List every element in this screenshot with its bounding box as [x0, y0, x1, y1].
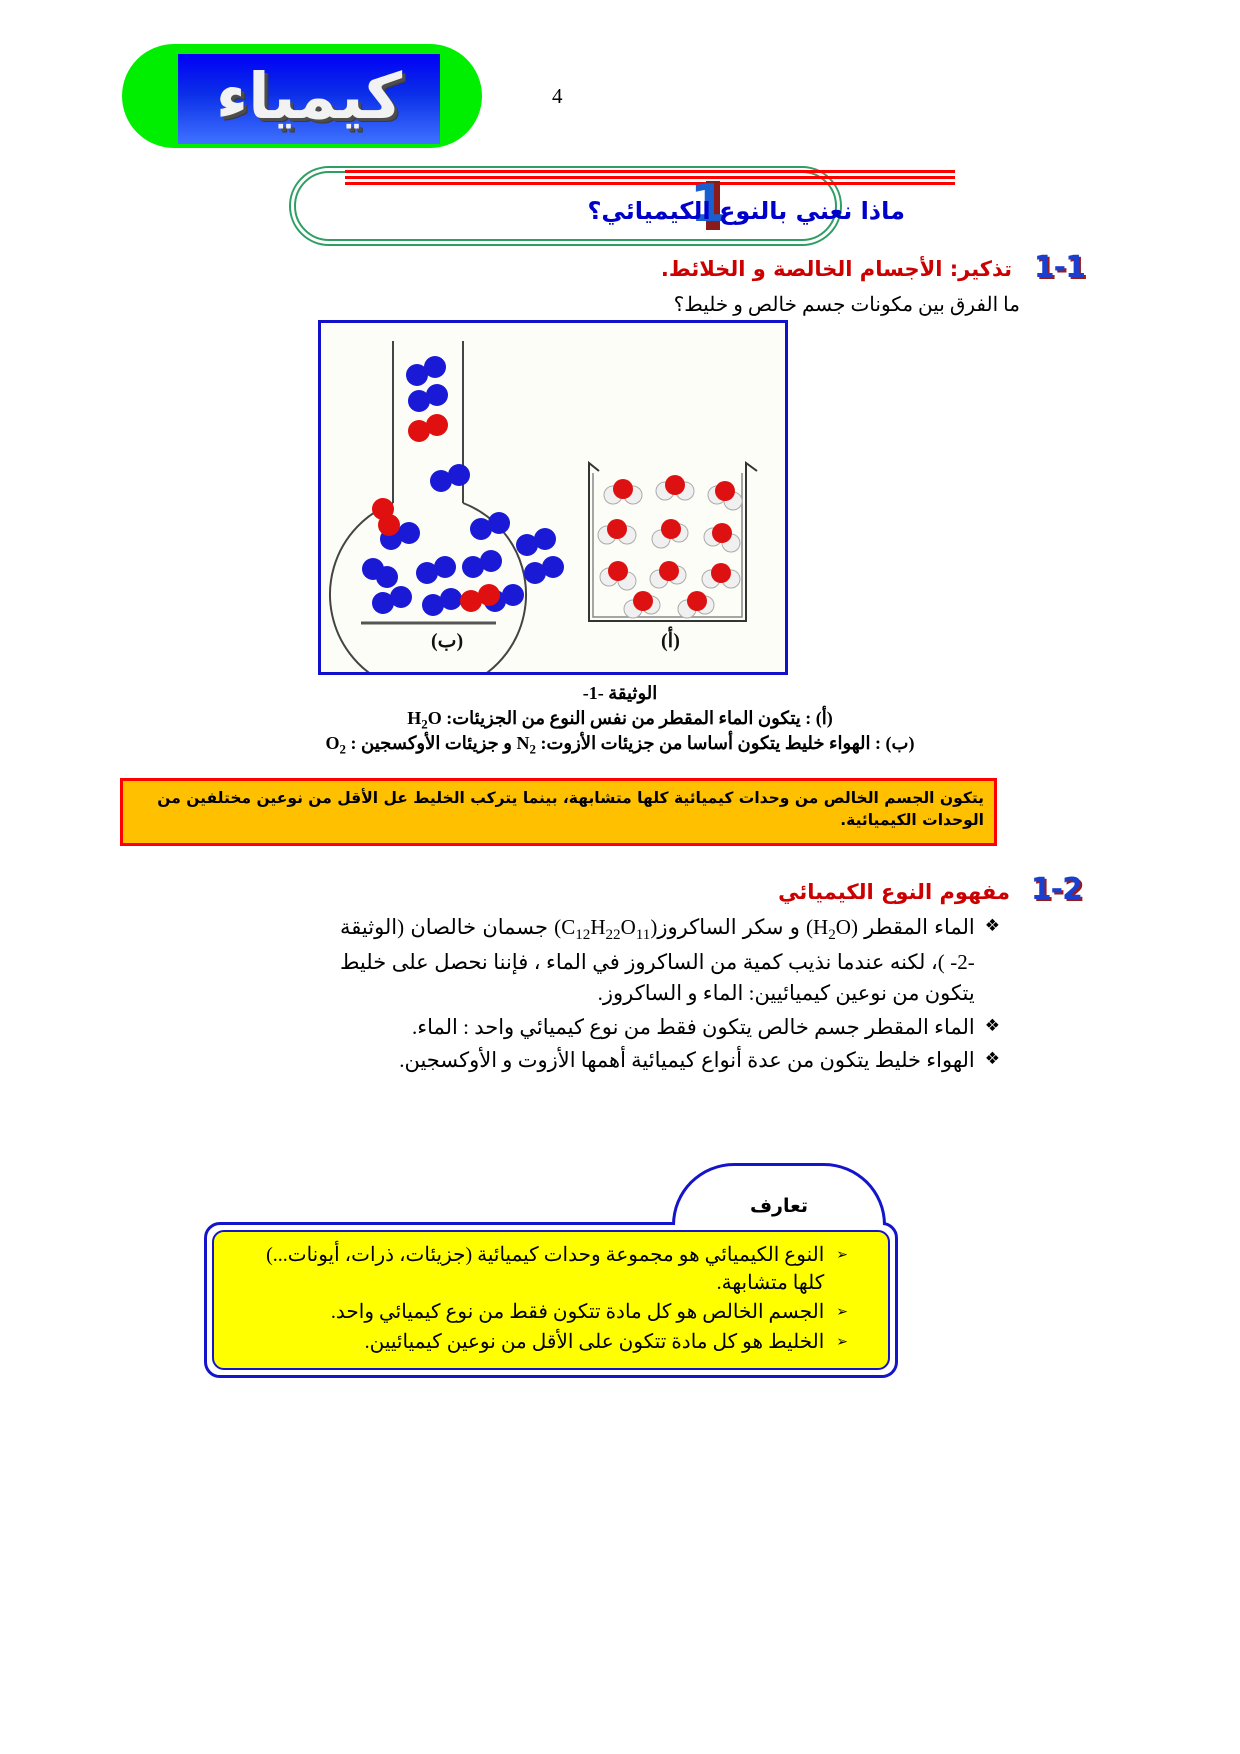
figure-caption-a: (أ) : يتكون الماء المقطر من نفس النوع من…	[0, 708, 1240, 733]
caption-b-text1: (ب) : الهواء خليط يتكون أساسا من جزيئات …	[536, 733, 914, 753]
list-item: ❖ الماء المقطر (H2O) و سكر الساكروز(C12H…	[340, 912, 1000, 1010]
list-item: ❖ الهواء خليط يتكون من عدة أنواع كيميائي…	[340, 1045, 1000, 1077]
definition-text: الجسم الخالص هو كل مادة تتكون فقط من نوع…	[230, 1299, 824, 1327]
figure-1-illustration	[321, 323, 785, 672]
section1-title: ماذا نعني بالنوع الكيميائي؟	[588, 197, 906, 225]
caption-a-H: H	[407, 708, 421, 728]
definitions-box: ➢ النوع الكيميائي هو مجموعة وحدات كيميائ…	[212, 1230, 890, 1370]
page-header: كيمياء 4	[0, 22, 1240, 142]
list-item-text: الماء المقطر (H2O) و سكر الساكروز(C12H22…	[340, 912, 975, 1010]
bullet-arrow-icon: ➢	[836, 1242, 848, 1297]
bullet-arrow-icon: ➢	[836, 1329, 848, 1357]
red-rule-lines	[345, 170, 955, 188]
section-1-1-question: ما الفرق بين مكونات جسم خالص و خليط؟	[674, 292, 1020, 317]
definition-text: الخليط هو كل مادة تتكون على الأقل من نوع…	[230, 1329, 824, 1357]
subject-title-plate: كيمياء	[178, 54, 440, 144]
section-1-2-number: 1-2	[1031, 872, 1082, 907]
definition-item: ➢ الخليط هو كل مادة تتكون على الأقل من ن…	[230, 1329, 848, 1357]
caption-a-O: O	[428, 708, 442, 728]
key-rule-text: يتكون الجسم الخالص من وحدات كيميائية كله…	[133, 787, 984, 832]
bullet-diamond-icon: ❖	[985, 1012, 1000, 1040]
page-number: 4	[552, 84, 563, 109]
definition-text: النوع الكيميائي هو مجموعة وحدات كيميائية…	[230, 1242, 824, 1297]
definitions-tab: تعارف	[672, 1163, 886, 1225]
definition-item: ➢ النوع الكيميائي هو مجموعة وحدات كيميائ…	[230, 1242, 848, 1297]
bullet-diamond-icon: ❖	[985, 1045, 1000, 1073]
caption-b-O: O	[326, 733, 340, 753]
vessel-label-right: (أ)	[661, 628, 680, 653]
figure-caption-title: الوثيقة -1-	[0, 683, 1240, 704]
caption-b-text2: و جزيئات الأوكسجين :	[346, 733, 516, 753]
bullet-arrow-icon: ➢	[836, 1299, 848, 1327]
vessel-label-left: (ب)	[431, 628, 463, 653]
definitions-tab-label: تعارف	[675, 1195, 883, 1217]
caption-b-N: N	[517, 733, 530, 753]
section-1-1-title: تذكير: الأجسام الخالصة و الخلائط.	[661, 257, 1012, 281]
subject-title-text: كيمياء	[216, 65, 402, 134]
list-item-text: الهواء خليط يتكون من عدة أنواع كيميائية …	[340, 1045, 975, 1077]
section-1-1-number: 1-1	[1034, 250, 1085, 285]
section-1-2-list: ❖ الماء المقطر (H2O) و سكر الساكروز(C12H…	[340, 912, 1000, 1079]
figure-1-frame: (ب) (أ)	[318, 320, 788, 675]
caption-a-text: (أ) : يتكون الماء المقطر من نفس النوع من…	[442, 708, 833, 728]
bullet-diamond-icon: ❖	[985, 912, 1000, 940]
key-rule-box: يتكون الجسم الخالص من وحدات كيميائية كله…	[120, 778, 997, 846]
figure-caption-b: (ب) : الهواء خليط يتكون أساسا من جزيئات …	[0, 733, 1240, 758]
definition-item: ➢ الجسم الخالص هو كل مادة تتكون فقط من ن…	[230, 1299, 848, 1327]
list-item-text: الماء المقطر جسم خالص يتكون فقط من نوع ك…	[340, 1012, 975, 1044]
water-molecules	[598, 475, 742, 618]
list-item: ❖ الماء المقطر جسم خالص يتكون فقط من نوع…	[340, 1012, 1000, 1044]
section-1-2-title: مفهوم النوع الكيميائي	[778, 880, 1010, 904]
